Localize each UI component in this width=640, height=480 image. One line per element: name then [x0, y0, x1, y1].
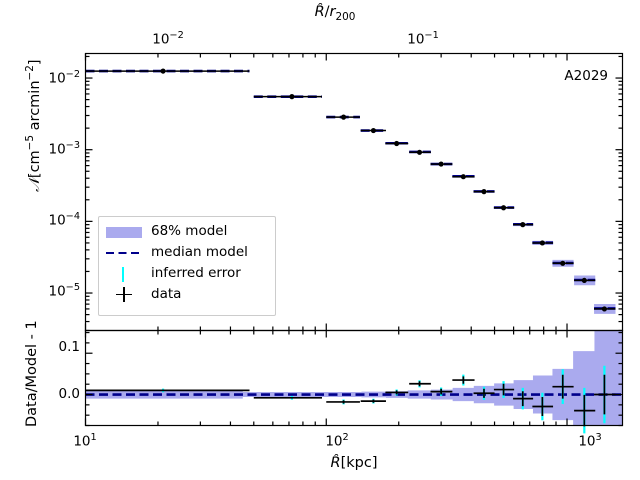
main-right-yticks — [616, 56, 623, 330]
plot-svg — [0, 0, 640, 480]
legend-label-1: median model — [151, 246, 248, 260]
main-ytick-label-3: 10−5 — [48, 282, 80, 300]
cyan-bar-icon — [105, 266, 143, 282]
top-tick-label-1: 10−1 — [407, 30, 439, 48]
band-patch-icon — [105, 224, 143, 240]
plus-marker-icon — [105, 287, 143, 303]
legend-label-0: 68% model — [151, 225, 227, 239]
top-tick-label-0: 10−2 — [152, 30, 184, 48]
main-left-yticks — [86, 56, 93, 330]
legend-label-3: data — [151, 288, 181, 302]
legend: 68% model median model inferred error da… — [98, 216, 276, 316]
main-top-xticks — [86, 54, 568, 61]
legend-item-median-model: median model — [105, 242, 268, 263]
legend-item-68-model: 68% model — [105, 221, 268, 242]
main-bottom-xticks — [86, 324, 568, 331]
cluster-annotation: A2029 — [564, 68, 608, 84]
residual-top-xticks — [86, 331, 568, 338]
resid-ytick-label-0: 0.0 — [59, 386, 80, 402]
dashed-line-icon — [105, 245, 143, 261]
legend-label-2: inferred error — [151, 267, 241, 281]
resid-y-axis-title: Data/Model - 1 — [24, 320, 40, 427]
residual-bottom-xticks — [86, 419, 568, 426]
bottom-tick-label-2: 103 — [578, 432, 601, 450]
legend-item-data: data — [105, 284, 268, 305]
bottom-tick-label-1: 102 — [325, 432, 348, 450]
resid-ytick-label-1: 0.1 — [59, 339, 80, 355]
legend-item-inferred-error: inferred error — [105, 263, 268, 284]
main-ytick-label-1: 10−3 — [48, 140, 80, 158]
bottom-axis-title: R̂[kpc] — [331, 455, 378, 471]
main-ytick-label-2: 10−4 — [48, 211, 80, 229]
main-ytick-label-0: 10−2 — [48, 69, 80, 87]
figure-canvas: R̂/r200 10−2 10−1 10−2 10−3 10−4 10−5 𝒩[… — [0, 0, 640, 480]
bottom-tick-label-0: 101 — [73, 432, 96, 450]
main-y-axis-title: 𝒩[cm−5 arcmin−2] — [24, 59, 43, 192]
top-axis-title: R̂/r200 — [315, 4, 356, 23]
